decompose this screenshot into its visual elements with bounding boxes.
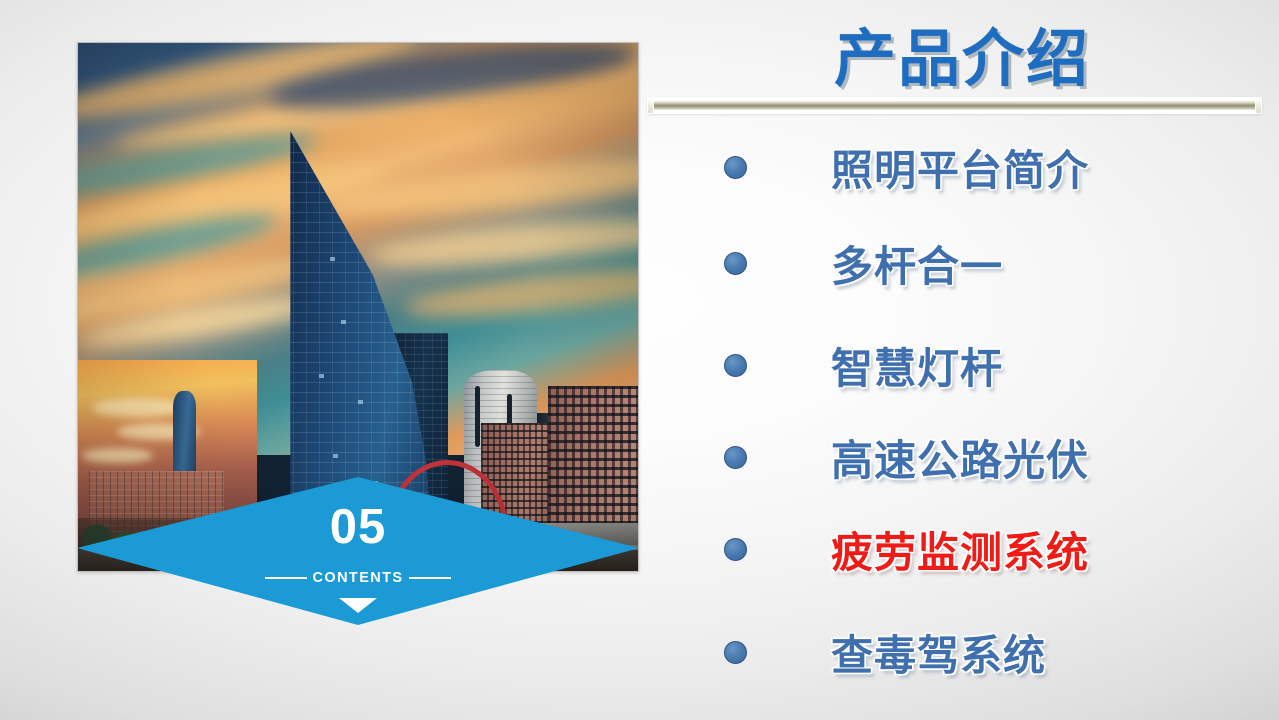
list-item[interactable]: 疲劳监测系统	[645, 527, 1279, 573]
page-title: 产品介绍	[645, 8, 1279, 98]
list-item[interactable]: 智慧灯杆	[645, 343, 1279, 389]
bullet-dot-icon	[724, 446, 747, 469]
bullet-dot-icon	[724, 252, 747, 275]
badge-rule-right	[409, 577, 451, 579]
down-triangle-icon	[339, 598, 377, 613]
list-item[interactable]: 照明平台简介	[645, 145, 1279, 191]
badge-label-row: CONTENTS	[77, 570, 639, 586]
badge-label: CONTENTS	[313, 570, 404, 586]
list-item-label: 照明平台简介	[831, 137, 1089, 198]
title-divider	[647, 97, 1262, 114]
bullet-dot-icon	[724, 354, 747, 377]
divider-cap-left	[647, 97, 654, 114]
list-item[interactable]: 查毒驾系统	[645, 630, 1279, 676]
list-item-label: 高速公路光伏	[831, 427, 1089, 488]
list-item-label: 疲劳监测系统	[831, 519, 1089, 580]
bullet-dot-icon	[724, 156, 747, 179]
badge-rule-left	[265, 577, 307, 579]
bullet-dot-icon	[724, 641, 747, 664]
divider-cap-right	[1255, 97, 1262, 114]
bullet-dot-icon	[724, 538, 747, 561]
list-item-label: 查毒驾系统	[831, 622, 1046, 683]
list-item[interactable]: 高速公路光伏	[645, 435, 1279, 481]
list-item[interactable]: 多杆合一	[645, 241, 1279, 287]
title-divider-bar	[650, 100, 1259, 111]
list-item-label: 多杆合一	[831, 233, 1003, 294]
list-item-label: 智慧灯杆	[831, 335, 1003, 396]
